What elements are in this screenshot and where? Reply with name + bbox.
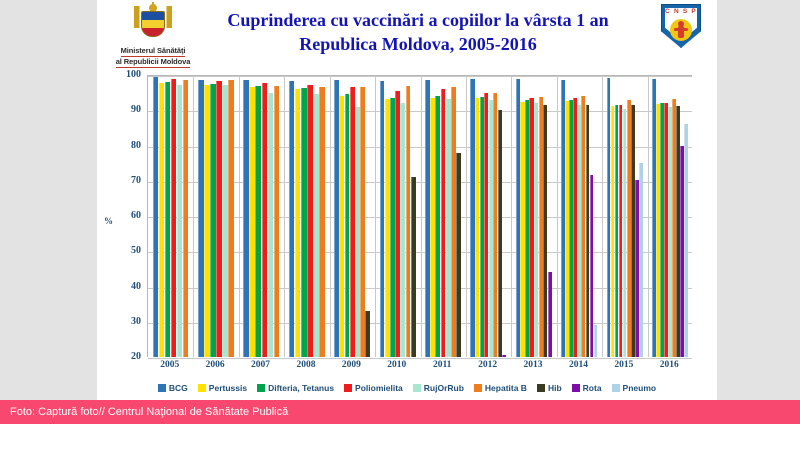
bar-poliomielita-2009: [350, 87, 355, 357]
bar-pertussis-2008: [295, 89, 301, 357]
bar-rujorrub-2007: [268, 93, 274, 357]
legend-label: Rota: [583, 383, 602, 393]
bar-pneumo-2014: [594, 325, 598, 357]
bar-rujorrub-2009: [355, 107, 360, 357]
y-tick-label: 90: [105, 104, 141, 115]
y-tick-label: 30: [105, 316, 141, 327]
bar-bcg-2008: [289, 81, 295, 357]
bar-rujorrub-2010: [400, 103, 405, 357]
legend-label: RujOrRub: [424, 383, 464, 393]
bar-poliomielita-2010: [395, 91, 400, 357]
bar-bcg-2009: [334, 80, 339, 357]
bar-pneumo-2015: [639, 163, 643, 357]
legend-label: Poliomielita: [355, 383, 403, 393]
legend-item-hib[interactable]: Hib: [537, 383, 562, 393]
legend-label: Hepatita B: [485, 383, 527, 393]
legend-item-difteria-tetanus[interactable]: Difteria, Tetanus: [257, 383, 334, 393]
y-tick-label: 80: [105, 140, 141, 151]
bar-group: [284, 76, 329, 357]
bar-hepatita-b-2009: [360, 87, 365, 357]
bar-rota-2013: [548, 272, 552, 357]
legend-label: Pneumo: [623, 383, 657, 393]
bar-hib-2011: [456, 153, 461, 357]
bar-group: [193, 76, 238, 357]
bar-hepatita-b-2010: [406, 86, 411, 357]
bar-group: [602, 76, 647, 357]
bar-hib-2010: [411, 177, 416, 357]
bar-rota-2012: [502, 355, 506, 357]
bar-pertussis-2006: [204, 85, 210, 357]
page-title: Cuprinderea cu vaccinări a copiilor la v…: [183, 8, 653, 56]
x-tick-label-2012: 2012: [465, 360, 511, 370]
y-tick-label: 70: [105, 175, 141, 186]
bar-group: [239, 76, 284, 357]
cnsp-logo: C N S P: [657, 4, 705, 52]
bar-poliomielita-2013: [529, 98, 533, 357]
bar-pertussis-2012: [475, 98, 479, 357]
legend-swatch-icon: [413, 384, 421, 392]
moldova-coat-of-arms-icon: [132, 4, 174, 44]
legend-label: BCG: [169, 383, 188, 393]
bar-hib-2012: [498, 110, 502, 357]
bar-pertussis-2011: [430, 98, 435, 357]
legend-item-rujorrub[interactable]: RujOrRub: [413, 383, 464, 393]
legend-swatch-icon: [612, 384, 620, 392]
bar-poliomielita-2006: [216, 81, 222, 357]
left-gutter: [0, 0, 97, 450]
y-tick-label: 40: [105, 281, 141, 292]
bar-hib-2013: [543, 105, 547, 357]
vaccination-coverage-chart: % 1009080706050403020 200520062007200820…: [97, 68, 717, 368]
bar-hepatita-b-2005: [183, 80, 189, 357]
x-tick-label-2013: 2013: [510, 360, 556, 370]
bar-difteria-tetanus-2012: [480, 97, 484, 357]
bar-hepatita-b-2013: [539, 97, 543, 357]
bar-pertussis-2013: [520, 102, 524, 357]
ministry-line-2: al Republicii Moldova: [116, 57, 191, 68]
y-tick-label: 100: [105, 69, 141, 80]
x-tick-label-2010: 2010: [374, 360, 420, 370]
gridline: [148, 358, 692, 359]
bar-rujorrub-2005: [177, 85, 183, 357]
bar-hepatita-b-2012: [493, 93, 497, 357]
bar-difteria-tetanus-2011: [435, 96, 440, 357]
bar-hib-2009: [365, 311, 370, 357]
bar-hepatita-b-2006: [228, 80, 234, 357]
bar-rujorrub-2008: [313, 94, 319, 357]
slide-canvas: Ministerul Sănătăţi al Republicii Moldov…: [97, 0, 717, 450]
legend-item-pneumo[interactable]: Pneumo: [612, 383, 657, 393]
legend-label: Difteria, Tetanus: [268, 383, 334, 393]
legend-swatch-icon: [257, 384, 265, 392]
bar-poliomielita-2005: [171, 79, 177, 357]
bar-difteria-tetanus-2008: [301, 88, 307, 357]
bar-difteria-tetanus-2009: [345, 94, 350, 357]
bar-difteria-tetanus-2010: [390, 98, 395, 357]
x-tick-label-2014: 2014: [555, 360, 601, 370]
bar-bcg-2013: [516, 79, 520, 357]
slide-header: Ministerul Sănătăţi al Republicii Moldov…: [97, 0, 717, 68]
plot-area: [147, 75, 692, 357]
title-line-2: Republica Moldova, 2005-2016: [183, 32, 653, 56]
bar-group: [648, 76, 693, 357]
bar-rujorrub-2006: [222, 85, 228, 357]
bar-hepatita-b-2008: [319, 87, 325, 357]
bar-difteria-tetanus-2005: [165, 82, 171, 357]
legend-swatch-icon: [158, 384, 166, 392]
legend-item-bcg[interactable]: BCG: [158, 383, 188, 393]
legend-label: Hib: [548, 383, 562, 393]
legend-item-hepatita-b[interactable]: Hepatita B: [474, 383, 527, 393]
ministry-line-1: Ministerul Sănătăţi: [121, 46, 186, 57]
bar-bcg-2007: [243, 80, 249, 357]
right-gutter: [717, 0, 800, 450]
x-tick-label-2011: 2011: [419, 360, 465, 370]
bar-bcg-2011: [425, 80, 430, 357]
x-tick-label-2009: 2009: [328, 360, 374, 370]
bar-difteria-tetanus-2013: [525, 100, 529, 357]
bar-difteria-tetanus-2007: [255, 86, 261, 357]
x-tick-label-2006: 2006: [192, 360, 238, 370]
bar-pertussis-2010: [385, 99, 390, 357]
legend-label: Pertussis: [209, 383, 247, 393]
bar-group: [557, 76, 602, 357]
bar-group: [148, 76, 193, 357]
bar-poliomielita-2008: [307, 85, 313, 357]
legend-swatch-icon: [537, 384, 545, 392]
cnsp-letters: C N S P: [662, 8, 700, 15]
bar-group: [421, 76, 466, 357]
bar-bcg-2006: [198, 80, 204, 357]
bar-pertussis-2005: [159, 83, 165, 357]
x-tick-label-2016: 2016: [646, 360, 692, 370]
legend-swatch-icon: [572, 384, 580, 392]
bar-bcg-2010: [380, 81, 385, 357]
y-tick-label: 50: [105, 245, 141, 256]
bar-pertussis-2009: [339, 96, 344, 357]
legend-item-pertussis[interactable]: Pertussis: [198, 383, 247, 393]
bar-pertussis-2007: [249, 87, 255, 357]
legend-swatch-icon: [344, 384, 352, 392]
y-tick-label: 60: [105, 210, 141, 221]
legend-swatch-icon: [198, 384, 206, 392]
bar-difteria-tetanus-2006: [210, 84, 216, 357]
bar-bcg-2005: [153, 77, 159, 357]
x-tick-label-2015: 2015: [601, 360, 647, 370]
bar-group: [375, 76, 420, 357]
bar-poliomielita-2011: [441, 89, 446, 357]
legend-item-poliomielita[interactable]: Poliomielita: [344, 383, 403, 393]
bar-rujorrub-2011: [446, 99, 451, 357]
bar-poliomielita-2007: [262, 83, 268, 357]
chart-legend: BCGPertussisDifteria, TetanusPoliomielit…: [97, 378, 717, 398]
x-tick-label-2005: 2005: [147, 360, 193, 370]
bar-pneumo-2016: [684, 124, 688, 357]
bar-group: [330, 76, 375, 357]
title-line-1: Cuprinderea cu vaccinări a copiilor la v…: [183, 8, 653, 32]
bottom-bar: [0, 424, 800, 450]
x-tick-label-2007: 2007: [238, 360, 284, 370]
bar-rujorrub-2013: [534, 103, 538, 358]
bar-hepatita-b-2007: [274, 86, 280, 357]
legend-item-rota[interactable]: Rota: [572, 383, 602, 393]
slide-stage: Ministerul Sănătăţi al Republicii Moldov…: [0, 0, 800, 450]
y-tick-label: 20: [105, 351, 141, 362]
bar-poliomielita-2012: [484, 93, 488, 357]
bar-rujorrub-2012: [489, 100, 493, 357]
bar-group: [466, 76, 511, 357]
bar-hepatita-b-2011: [451, 87, 456, 357]
x-tick-label-2008: 2008: [283, 360, 329, 370]
cnsp-shield-icon: C N S P: [661, 4, 701, 48]
bar-bcg-2012: [470, 79, 474, 357]
bar-group: [511, 76, 556, 357]
caption-bar: Foto: Captură foto// Centrul Naţional de…: [0, 400, 800, 424]
caption-text: Foto: Captură foto// Centrul Naţional de…: [0, 406, 288, 418]
legend-swatch-icon: [474, 384, 482, 392]
